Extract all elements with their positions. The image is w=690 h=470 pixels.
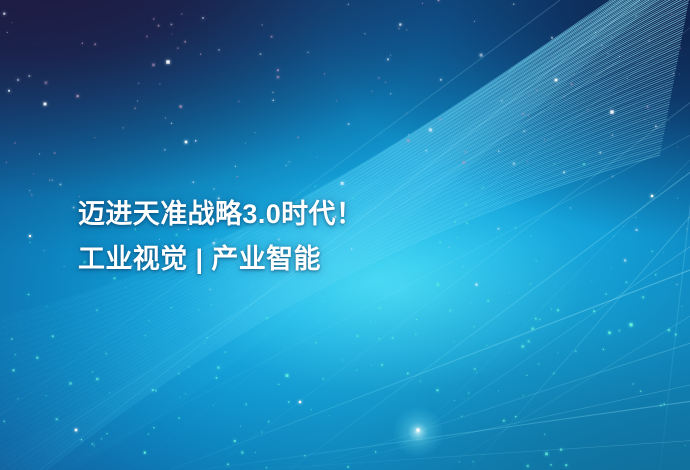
- fan-curve: [0, 0, 690, 377]
- diagonal-ray: [60, 130, 690, 470]
- particle-dot: [213, 188, 214, 189]
- particle-dot: [399, 23, 401, 25]
- particle-dot: [158, 25, 160, 27]
- particle-dot: [426, 150, 427, 151]
- particle-dot: [459, 461, 460, 462]
- particle-dot: [626, 281, 628, 283]
- particle-dot: [679, 74, 680, 75]
- particle-dot: [262, 25, 263, 26]
- particle-dot: [580, 27, 581, 28]
- fan-curve: [0, 0, 690, 364]
- fan-curve: [0, 102, 670, 470]
- particle-dot: [527, 161, 528, 162]
- particle-dot: [671, 13, 672, 14]
- particle-dot: [76, 95, 78, 97]
- particle-dot: [463, 161, 465, 163]
- particle-dot: [407, 140, 409, 142]
- particle-dot: [544, 434, 545, 435]
- particle-dot: [420, 381, 421, 382]
- particle-dot: [498, 390, 499, 391]
- particle-dot: [149, 320, 150, 321]
- particle-dot: [171, 123, 172, 124]
- particle-dot: [663, 252, 664, 253]
- particle-dot: [375, 451, 376, 452]
- particle-dot: [553, 373, 555, 375]
- particle-dot: [515, 416, 516, 417]
- particle-dot: [468, 393, 469, 394]
- particle-dot: [308, 52, 309, 53]
- particle-dot: [399, 28, 400, 29]
- particle-dot: [235, 166, 236, 167]
- particle-dot: [406, 30, 407, 31]
- particle-dot: [195, 140, 197, 142]
- particle-dot: [370, 322, 371, 323]
- particle-dot: [33, 173, 34, 174]
- fan-curve: [0, 121, 666, 470]
- particle-dot: [179, 105, 182, 108]
- particle-dot: [323, 301, 324, 302]
- particle-dot: [571, 83, 573, 85]
- particle-dot: [217, 366, 220, 369]
- particle-dot: [152, 64, 155, 67]
- particle-dot: [64, 266, 65, 267]
- particle-dot: [94, 43, 96, 45]
- particle-dot: [544, 139, 545, 140]
- particle-dot: [570, 207, 571, 208]
- particle-dot: [398, 179, 399, 180]
- particle-dot: [171, 307, 172, 308]
- particle-dot: [523, 395, 524, 396]
- fan-curve: [0, 0, 690, 369]
- particle-dot: [286, 374, 289, 377]
- particle-dot: [94, 445, 95, 446]
- fan-curve: [0, 0, 690, 343]
- particle-dot: [286, 165, 287, 166]
- diagonal-ray: [210, 95, 690, 470]
- particle-dot-bright: [75, 429, 78, 432]
- particle-dot: [474, 21, 475, 22]
- fan-curve: [0, 131, 664, 470]
- particle-dot: [629, 323, 632, 326]
- fan-curve: [0, 0, 690, 374]
- fan-curve: [0, 109, 669, 470]
- particle-dot: [390, 93, 391, 94]
- particle-dot: [266, 467, 267, 468]
- particle-dot: [94, 137, 95, 138]
- particle-dot: [454, 221, 456, 223]
- particle-dot: [595, 32, 596, 33]
- fan-curve: [0, 0, 690, 356]
- particle-dot: [153, 18, 155, 20]
- fan-curve: [0, 0, 690, 371]
- particle-dot: [7, 32, 8, 33]
- particle-dot: [255, 452, 256, 453]
- particle-dot: [289, 161, 290, 162]
- particle-dot: [92, 371, 93, 372]
- particle-dot: [390, 55, 391, 56]
- particle-dot: [278, 384, 279, 385]
- particle-dot: [273, 100, 275, 102]
- particle-dot: [172, 34, 173, 35]
- particle-dot: [148, 434, 149, 435]
- particle-dot: [473, 461, 474, 462]
- particle-dot: [407, 373, 409, 375]
- particle-dot: [538, 364, 539, 365]
- headline-line-1: 迈进天准战略3.0时代！: [78, 192, 363, 237]
- particle-dot: [498, 151, 499, 152]
- particle-dot: [52, 335, 54, 337]
- headline-block: 迈进天准战略3.0时代！ 工业视觉 | 产业智能: [78, 192, 363, 282]
- particle-dot: [575, 351, 577, 353]
- particle-dot: [521, 345, 524, 348]
- particle-dot: [29, 190, 30, 191]
- particle-dot: [304, 455, 306, 457]
- particle-dot: [528, 340, 530, 342]
- particle-dot: [627, 78, 628, 79]
- particle-dot: [28, 294, 30, 296]
- particle-dot: [204, 343, 205, 344]
- fan-curve: [0, 128, 665, 470]
- particle-dot: [619, 330, 621, 332]
- particle-dot: [680, 48, 681, 49]
- particle-dot: [640, 391, 642, 393]
- particle-dot: [406, 113, 407, 114]
- particle-dot: [181, 13, 182, 14]
- particle-dot: [611, 37, 612, 38]
- particle-dot: [535, 318, 537, 320]
- particle-dot: [356, 370, 357, 371]
- particle-dot: [677, 284, 678, 285]
- particle-dot: [449, 310, 451, 312]
- particle-dot: [146, 36, 148, 38]
- fan-curve: [0, 126, 665, 470]
- particle-dot: [348, 4, 349, 5]
- particle-dot: [311, 409, 312, 410]
- particle-dot: [574, 74, 575, 75]
- particle-dot: [342, 359, 343, 360]
- particle-dot: [218, 49, 219, 50]
- particle-dot: [558, 353, 559, 354]
- particle-dot: [587, 109, 588, 110]
- particle-dot: [315, 186, 316, 187]
- fan-curve: [0, 114, 668, 470]
- particle-dot: [565, 464, 567, 466]
- particle-dot: [30, 242, 31, 243]
- diagonal-ray: [170, 270, 690, 470]
- particle-dot: [329, 415, 330, 416]
- particle-dot: [513, 162, 515, 164]
- particle-dot: [372, 91, 373, 92]
- fan-curve: [0, 0, 690, 348]
- particle-dot: [527, 465, 529, 467]
- particle-dot: [554, 57, 555, 58]
- particle-dot: [465, 204, 467, 206]
- particle-dot: [46, 395, 47, 396]
- particle-dot: [686, 228, 687, 229]
- fan-curve: [0, 104, 669, 470]
- particle-dot: [277, 76, 280, 79]
- particle-dot: [164, 149, 166, 151]
- particle-dot: [238, 101, 239, 102]
- particle-dot: [408, 134, 409, 135]
- particle-dot: [474, 368, 475, 369]
- particle-dot: [647, 106, 649, 108]
- particle-dot: [155, 390, 157, 392]
- particle-dot: [152, 389, 154, 391]
- particle-dot: [422, 3, 423, 4]
- particle-dot: [527, 168, 528, 169]
- particle-dot: [227, 464, 229, 466]
- particle-dot: [137, 101, 138, 102]
- particle-dot: [599, 152, 601, 154]
- particle-dot: [52, 180, 53, 181]
- particle-dot: [272, 92, 273, 93]
- particle-dot: [449, 247, 450, 248]
- fan-curve: [0, 119, 667, 470]
- particle-dot: [379, 338, 380, 339]
- particle-dot: [669, 120, 670, 121]
- particle-dot: [501, 234, 502, 235]
- particle-dot: [415, 334, 416, 335]
- particle-dot: [527, 375, 528, 376]
- particle-dot: [177, 47, 179, 49]
- diagonal-ray: [440, 310, 690, 470]
- particle-dot: [11, 338, 12, 339]
- particle-dot: [13, 369, 15, 371]
- particle-dot: [323, 378, 324, 379]
- diagonal-ray: [250, 440, 690, 470]
- particle-dot: [486, 345, 487, 346]
- diagonal-ray: [660, 120, 690, 470]
- particle-dot: [522, 113, 524, 115]
- particle-dot: [138, 83, 139, 84]
- particle-dot: [144, 452, 146, 454]
- particle-dot: [642, 296, 644, 298]
- particle-dot-bright: [417, 429, 420, 432]
- particle-dot: [480, 54, 483, 57]
- particle-dot: [677, 147, 678, 148]
- particle-dot-bright: [610, 110, 613, 113]
- particle-dot-bright: [29, 235, 31, 237]
- particle-dot: [601, 45, 602, 46]
- fan-curve: [0, 0, 690, 333]
- particle-dot: [324, 73, 325, 74]
- particle-dot: [530, 235, 531, 236]
- diagonal-ray: [380, 150, 690, 470]
- particle-dot: [364, 33, 365, 34]
- headline-line-2: 工业视觉 | 产业智能: [78, 237, 363, 282]
- particle-dot: [385, 82, 386, 83]
- particle-dot: [501, 184, 502, 185]
- particle-dot: [348, 123, 350, 125]
- fan-curve: [0, 99, 670, 470]
- particle-dot: [591, 280, 592, 281]
- particle-dot: [371, 365, 372, 366]
- particle-dot: [606, 294, 607, 295]
- particle-dot: [652, 251, 653, 252]
- fan-curve: [0, 0, 690, 361]
- particle-dot: [200, 54, 201, 55]
- particle-dot: [644, 119, 645, 120]
- particle-dot: [664, 403, 666, 405]
- particle-dot-bright: [651, 195, 653, 197]
- particle-dot: [465, 151, 467, 153]
- particle-dot: [44, 81, 47, 84]
- fan-curve: [0, 141, 663, 470]
- particle-dot: [126, 288, 127, 289]
- particle-dot: [560, 449, 562, 451]
- particle-dot: [210, 289, 211, 290]
- particle-dot: [28, 75, 30, 77]
- particle-dot: [198, 309, 199, 310]
- particle-dot: [44, 250, 45, 251]
- particle-dot: [528, 115, 529, 116]
- particle-dot: [457, 237, 458, 238]
- fan-curve: [0, 116, 667, 470]
- particle-dot-bright: [185, 141, 188, 144]
- particle-dot: [109, 392, 110, 393]
- particle-dot: [475, 284, 477, 286]
- particle-dot: [82, 43, 83, 44]
- particle-dot: [134, 108, 136, 110]
- particle-dot: [178, 417, 180, 419]
- particle-dot: [635, 217, 636, 218]
- fan-curve: [0, 138, 663, 470]
- particle-dot: [4, 421, 6, 423]
- particle-dot: [603, 349, 604, 350]
- particle-dot: [515, 227, 516, 228]
- particle-dot: [655, 126, 657, 128]
- particle-dot: [528, 94, 529, 95]
- diagonal-ray: [300, 385, 690, 470]
- particle-dot: [487, 300, 489, 302]
- particle-dot: [255, 132, 256, 133]
- particle-dot: [612, 134, 614, 136]
- particle-dot: [315, 342, 316, 343]
- particle-dot: [381, 364, 383, 366]
- particle-dot: [240, 426, 241, 427]
- particle-dot: [106, 353, 107, 354]
- particle-dot: [682, 306, 683, 307]
- particle-dot: [378, 77, 379, 78]
- particle-dot: [454, 400, 455, 401]
- fan-curve: [0, 0, 690, 346]
- fan-curve: [0, 0, 690, 351]
- particle-dot: [608, 53, 609, 54]
- particle-dot: [185, 393, 186, 394]
- particle-dot: [357, 335, 359, 337]
- fan-curve: [0, 0, 690, 353]
- particle-dot: [536, 260, 538, 262]
- particle-dot: [288, 401, 290, 403]
- particle-dot: [530, 283, 531, 284]
- particle-dot: [184, 41, 186, 43]
- particle-dot: [501, 100, 503, 102]
- particle-dot: [611, 267, 612, 268]
- particle-dot: [675, 334, 677, 336]
- particle-dot: [466, 222, 468, 224]
- particle-dot: [440, 242, 441, 243]
- particle-dot: [245, 403, 247, 405]
- particle-dot: [593, 310, 595, 312]
- particle-dot: [649, 40, 650, 41]
- particle-dot: [470, 128, 471, 129]
- diagonal-ray: [365, 240, 690, 470]
- particle-dot: [437, 389, 439, 391]
- diagonal-ray: [470, 205, 690, 470]
- particle-dot: [536, 90, 537, 91]
- particle-dot: [583, 163, 585, 165]
- particle-dot: [216, 377, 218, 379]
- particle-dot: [474, 326, 475, 327]
- particle-dot: [437, 283, 440, 286]
- particle-dot: [8, 90, 10, 92]
- particle-dot: [503, 420, 505, 422]
- particle-dot: [106, 433, 107, 434]
- fan-curve: [0, 95, 671, 470]
- particle-dot: [241, 451, 244, 454]
- particle-dot: [49, 180, 50, 181]
- particle-dot: [245, 143, 246, 144]
- particle-dot: [260, 53, 262, 55]
- particle-dot: [523, 130, 525, 132]
- particle-dot-bright: [555, 79, 558, 82]
- particle-dot: [612, 176, 614, 178]
- particle-dot: [624, 259, 626, 261]
- particle-dot: [165, 118, 166, 119]
- particle-dot: [298, 137, 299, 138]
- particle-dot: [539, 319, 540, 320]
- particle-dot: [266, 317, 268, 319]
- particle-dot: [69, 382, 72, 385]
- particle-dot: [271, 36, 273, 38]
- particle-dot: [550, 464, 552, 466]
- particle-dot: [636, 15, 637, 16]
- particle-dot: [551, 309, 552, 310]
- particle-dot: [439, 119, 441, 121]
- particle-dot: [545, 452, 548, 455]
- particle-dot: [668, 329, 670, 331]
- particle-dot: [193, 182, 195, 184]
- diagonal-ray: [200, 400, 690, 470]
- particle-dot: [237, 176, 238, 177]
- particle-dot: [619, 56, 620, 57]
- particle-dot: [39, 154, 40, 155]
- particle-dot: [81, 439, 82, 440]
- particle-dot: [101, 438, 102, 439]
- particle-dot: [416, 319, 417, 320]
- particle-dot: [202, 17, 204, 19]
- fan-curve: [0, 0, 690, 335]
- particle-dot: [660, 405, 662, 407]
- particle-dot: [96, 378, 99, 381]
- particle-dot: [261, 432, 262, 433]
- particle-dot: [145, 335, 146, 336]
- particle-dot: [438, 0, 440, 1]
- particle-dot: [178, 373, 179, 374]
- particle-dot: [379, 307, 381, 309]
- particle-dot: [509, 292, 510, 293]
- particle-dot: [341, 182, 344, 185]
- particle-dot: [31, 194, 32, 195]
- particle-dot: [551, 37, 553, 39]
- particle-dot: [655, 274, 657, 276]
- particle-dot: [159, 84, 160, 85]
- particle-dot: [636, 229, 638, 231]
- fan-curve: [0, 112, 668, 470]
- particle-dot: [46, 306, 47, 307]
- particle-dot: [14, 142, 15, 143]
